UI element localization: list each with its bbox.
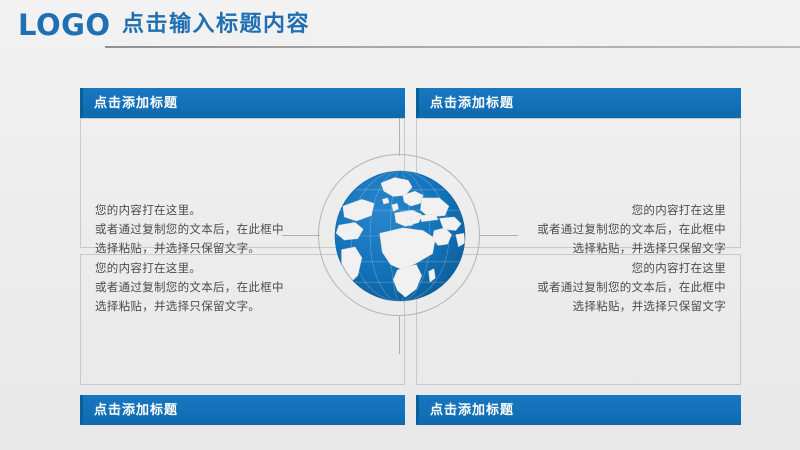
body-line: 或者通过复制您的文本后，在此框中 <box>537 221 726 240</box>
header-divider <box>105 46 800 48</box>
connector-line-bottom <box>399 316 400 354</box>
connector-line-right <box>480 235 518 236</box>
body-line: 选择粘贴，并选择只保留文字。 <box>95 298 284 317</box>
body-line: 您的内容打在这里。 <box>95 202 284 221</box>
body-line: 您的内容打在这里 <box>537 260 726 279</box>
panel-top-left-title: 点击添加标题 <box>94 94 178 112</box>
panel-top-right-title-bar[interactable]: 点击添加标题 <box>416 88 741 118</box>
page-title: 点击输入标题内容 <box>122 12 310 36</box>
panel-bottom-right-title: 点击添加标题 <box>430 401 514 419</box>
body-line: 或者通过复制您的文本后，在此框中 <box>537 279 726 298</box>
connector-line-left <box>282 235 320 236</box>
panel-top-right-body: 您的内容打在这里 或者通过复制您的文本后，在此框中 选择粘贴，并选择只保留文字 <box>537 202 726 259</box>
body-line: 您的内容打在这里。 <box>95 260 284 279</box>
body-line: 选择粘贴，并选择只保留文字 <box>537 298 726 317</box>
slide-header: LOGO 点击输入标题内容 <box>0 0 800 62</box>
body-line: 或者通过复制您的文本后，在此框中 <box>95 221 284 240</box>
center-globe-graphic <box>318 154 482 318</box>
panel-top-right-title: 点击添加标题 <box>430 94 514 112</box>
body-line: 或者通过复制您的文本后，在此框中 <box>95 279 284 298</box>
panel-bottom-right-title-bar[interactable]: 点击添加标题 <box>416 395 741 425</box>
panel-bottom-right-body: 您的内容打在这里 或者通过复制您的文本后，在此框中 选择粘贴，并选择只保留文字 <box>537 260 726 317</box>
panel-top-left-body: 您的内容打在这里。 或者通过复制您的文本后，在此框中 选择粘贴，并选择只保留文字… <box>95 202 284 259</box>
panel-bottom-left-title: 点击添加标题 <box>94 401 178 419</box>
globe-icon <box>332 168 468 304</box>
logo: LOGO <box>18 11 111 40</box>
body-line: 您的内容打在这里 <box>537 202 726 221</box>
panel-bottom-left-title-bar[interactable]: 点击添加标题 <box>80 395 405 425</box>
panel-bottom-left-body: 您的内容打在这里。 或者通过复制您的文本后，在此框中 选择粘贴，并选择只保留文字… <box>95 260 284 317</box>
panel-top-left-title-bar[interactable]: 点击添加标题 <box>80 88 405 118</box>
slide-canvas: LOGO 点击输入标题内容 点击添加标题 您的内容打在这里。 或者通过复制您的文… <box>0 0 800 450</box>
connector-line-top <box>399 118 400 156</box>
